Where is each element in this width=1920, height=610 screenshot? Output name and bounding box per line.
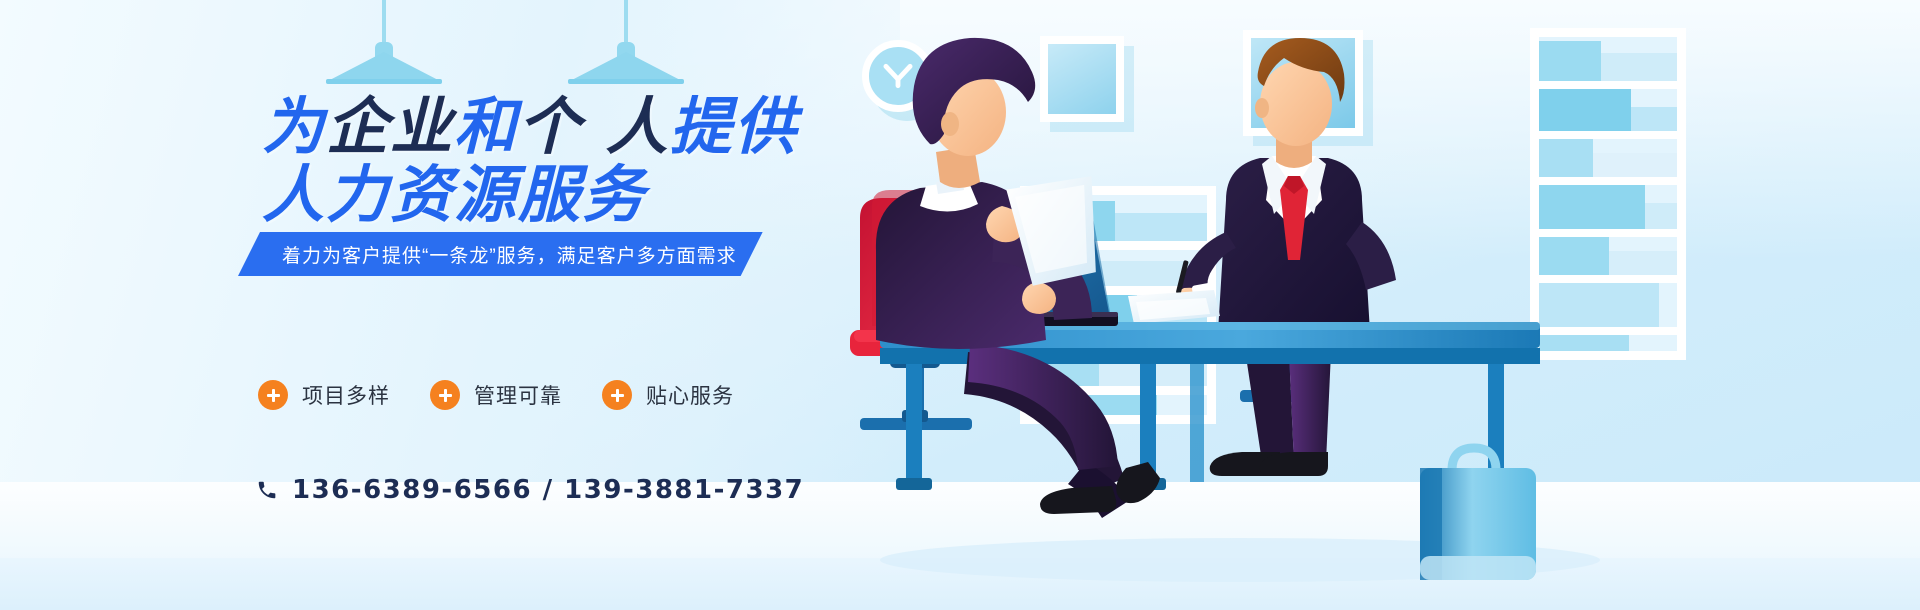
headline-seg-3: 和 <box>454 90 518 163</box>
headline-line-1: 为企业和个 人提供 <box>262 96 798 158</box>
hr-service-banner: 为企业和个 人提供 人力资源服务 着力为客户提供“一条龙”服务，满足客户多方面需… <box>0 0 1920 610</box>
headline-seg-1: 为 <box>262 90 326 163</box>
person-right-front-view <box>1174 38 1396 476</box>
subtitle-bar-wrap: 着力为客户提供“一条龙”服务，满足客户多方面需求 <box>238 232 763 276</box>
office-scene-illustration <box>840 0 1660 610</box>
subtitle-text: 着力为客户提供“一条龙”服务，满足客户多方面需求 <box>282 241 737 268</box>
feature-label: 项目多样 <box>302 380 390 410</box>
plus-icon <box>602 380 632 410</box>
feature-item[interactable]: 管理可靠 <box>430 380 562 410</box>
plus-icon <box>430 380 460 410</box>
papers-on-desk <box>1128 290 1220 324</box>
plus-icon <box>258 380 288 410</box>
phone-handset-icon <box>256 479 278 501</box>
headline-line-2: 人力资源服务 <box>262 164 646 226</box>
headline-seg-4: 个 人 <box>518 90 670 163</box>
headline-seg-5: 提供 <box>670 90 798 163</box>
ceiling-lamp-left <box>326 0 442 82</box>
ceiling-lamp-right <box>568 0 684 82</box>
subtitle-bar: 着力为客户提供“一条龙”服务，满足客户多方面需求 <box>238 232 763 276</box>
feature-label: 管理可靠 <box>474 380 562 410</box>
briefcase <box>1420 448 1536 580</box>
headline-seg-2: 企业 <box>326 90 454 163</box>
feature-item[interactable]: 贴心服务 <box>602 380 734 410</box>
feature-label: 贴心服务 <box>646 380 734 410</box>
feature-item[interactable]: 项目多样 <box>258 380 390 410</box>
feature-list: 项目多样 管理可靠 贴心服务 <box>258 380 734 410</box>
phone-number: 136-6389-6566 / 139-3881-7337 <box>292 475 804 505</box>
contact-phone[interactable]: 136-6389-6566 / 139-3881-7337 <box>256 475 804 505</box>
